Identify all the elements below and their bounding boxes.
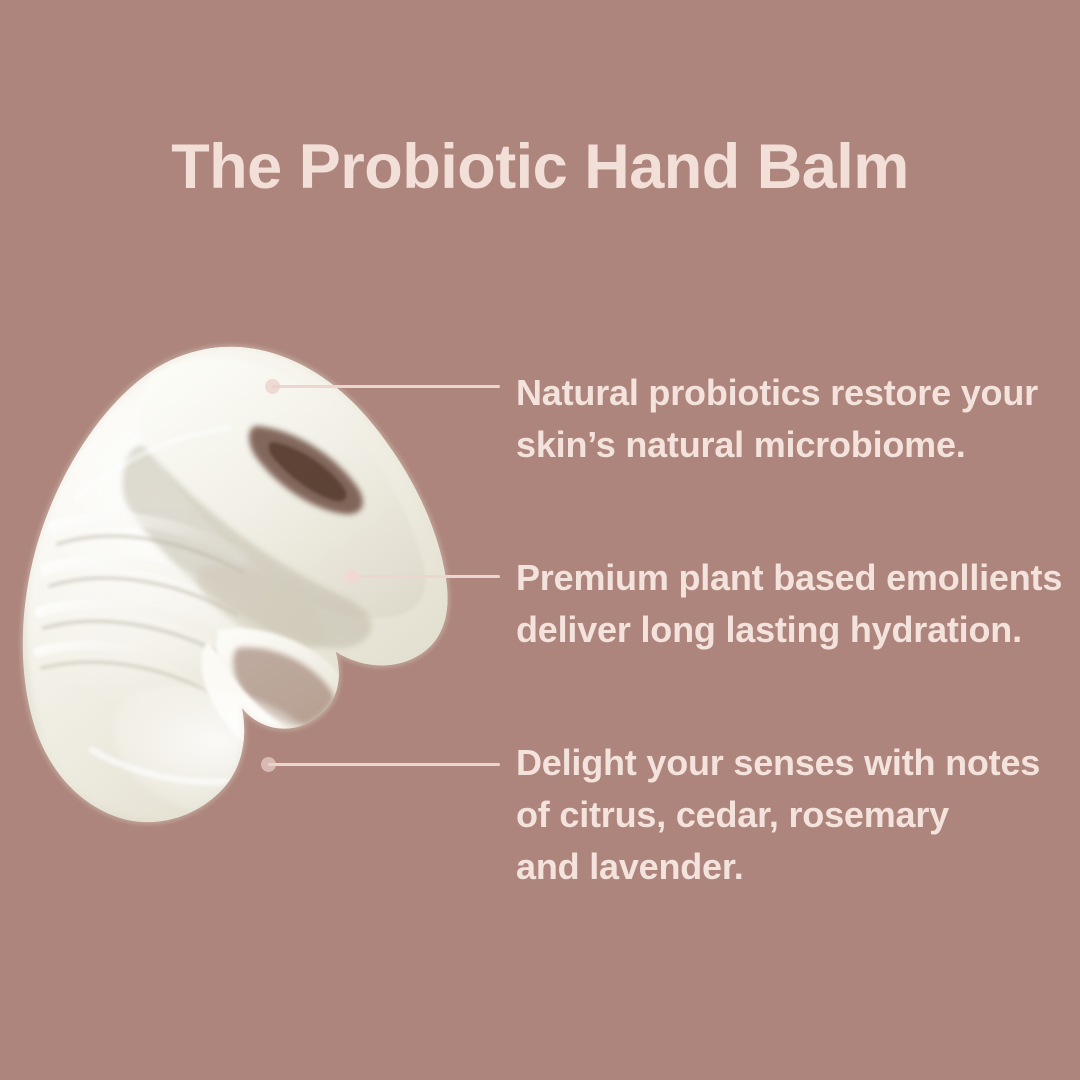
hand-balm-cream-swatch xyxy=(6,330,486,860)
callout-fragrance: Delight your senses with notes of citrus… xyxy=(516,737,1076,893)
leader-dot-fragrance xyxy=(261,757,276,772)
callout-fragrance-line-1: Delight your senses with notes xyxy=(516,737,1076,789)
callout-probiotics: Natural probiotics restore your skin’s n… xyxy=(516,367,1076,471)
leader-line-emollients xyxy=(351,575,500,578)
infographic-canvas: The Probiotic Hand Balm xyxy=(0,0,1080,1080)
callout-probiotics-line-1: Natural probiotics restore your xyxy=(516,367,1076,419)
callout-emollients: Premium plant based emollients deliver l… xyxy=(516,552,1076,656)
callout-emollients-line-1: Premium plant based emollients xyxy=(516,552,1076,604)
callout-fragrance-line-2: of citrus, cedar, rosemary xyxy=(516,789,1076,841)
leader-dot-probiotics xyxy=(265,379,280,394)
page-title: The Probiotic Hand Balm xyxy=(0,136,1080,199)
leader-line-fragrance xyxy=(268,763,500,766)
callout-probiotics-line-2: skin’s natural microbiome. xyxy=(516,419,1076,471)
callout-fragrance-line-3: and lavender. xyxy=(516,841,1076,893)
callout-emollients-line-2: deliver long lasting hydration. xyxy=(516,604,1076,656)
leader-dot-emollients xyxy=(344,569,359,584)
leader-line-probiotics xyxy=(272,385,500,388)
